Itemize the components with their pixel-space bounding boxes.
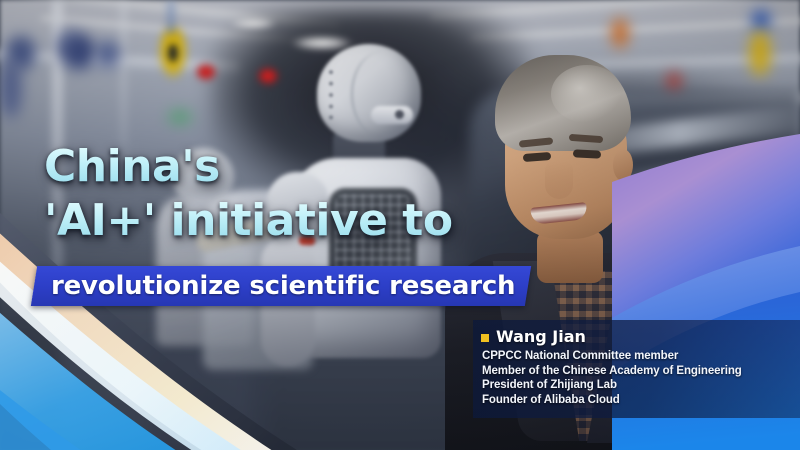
speaker-title: President of Zhijiang Lab (482, 378, 794, 393)
speaker-title: Member of the Chinese Academy of Enginee… (482, 364, 794, 379)
speaker-title: CPPCC National Committee member (482, 349, 794, 364)
broadcast-news-frame: China's 'AI+' initiative to revolutioniz… (0, 0, 800, 450)
speaker-name: Wang Jian (496, 327, 586, 346)
bullet-square-icon (481, 334, 489, 342)
headline-banner-text: revolutionize scientific research (51, 272, 515, 300)
speaker-name-row: Wang Jian (481, 327, 794, 346)
lower-third-panel: Wang Jian CPPCC National Committee membe… (473, 320, 800, 418)
headline-line-2: 'AI+' initiative to (44, 194, 514, 248)
headline-line-1: China's (44, 140, 514, 194)
headline-block: China's 'AI+' initiative to (44, 140, 514, 248)
speaker-title: Founder of Alibaba Cloud (482, 393, 794, 408)
speaker-titles: CPPCC National Committee member Member o… (482, 349, 794, 407)
headline-banner: revolutionize scientific research (31, 266, 532, 306)
lower-third-content: Wang Jian CPPCC National Committee membe… (481, 327, 794, 407)
